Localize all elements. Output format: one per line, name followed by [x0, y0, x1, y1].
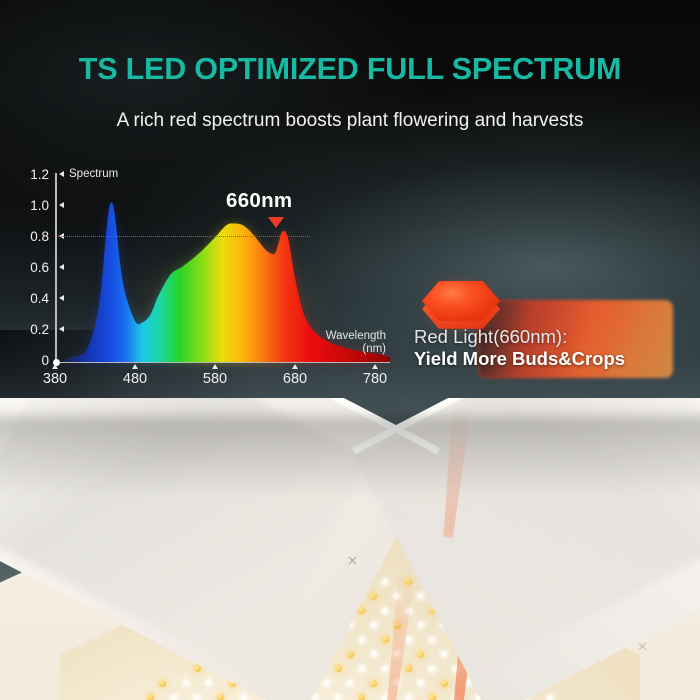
- led-dot: [347, 651, 354, 658]
- led-dot: [194, 665, 201, 672]
- led-dot: [441, 651, 447, 657]
- y-tick-mark: [59, 171, 64, 177]
- x-tick-mark: [132, 364, 138, 369]
- led-dot: [371, 622, 377, 628]
- led-dot: [429, 637, 435, 643]
- x-tick-mark: [212, 364, 218, 369]
- y-tick-mark: [59, 295, 64, 301]
- led-dot: [359, 666, 365, 672]
- led-dot: [183, 680, 189, 686]
- x-tick-label: 480: [113, 371, 157, 387]
- led-dot: [441, 680, 448, 687]
- red-led-diode: [418, 277, 504, 333]
- annotation-660nm-marker: [268, 217, 284, 228]
- led-dot: [335, 695, 341, 700]
- panel-top-shadow: [0, 416, 700, 496]
- led-dot: [382, 636, 389, 643]
- led-dot: [382, 666, 388, 672]
- y-tick-label: 1.2: [17, 167, 49, 182]
- spectrum-chart: 1.2 1.0 0.8 0.6 0.4 0.2 0 Spectrum 380 4…: [22, 165, 402, 405]
- led-dot: [406, 637, 412, 643]
- led-dot: [147, 694, 154, 700]
- y-tick-mark: [59, 202, 64, 208]
- page-subtitle: A rich red spectrum boosts plant floweri…: [0, 110, 700, 132]
- y-tick-mark: [59, 326, 64, 332]
- annotation-660nm-label: 660nm: [226, 189, 292, 213]
- callout-line-1: Red Light(660nm):: [414, 326, 567, 348]
- x-axis-label: Wavelength: [326, 330, 386, 342]
- led-dot: [418, 622, 424, 628]
- led-dot: [358, 694, 365, 700]
- y-tick-label: 0.6: [17, 260, 49, 275]
- led-dot: [194, 695, 200, 700]
- callout-line-2: Yield More Buds&Crops: [414, 348, 625, 370]
- x-tick-label: 680: [273, 371, 317, 387]
- spectrum-curve: [22, 165, 402, 405]
- led-dot: [371, 651, 377, 657]
- led-dot: [382, 695, 388, 700]
- x-tick-label: 780: [353, 371, 397, 387]
- led-dot: [418, 680, 424, 686]
- led-dot: [324, 680, 330, 686]
- y-tick-label: 1.0: [17, 198, 49, 213]
- led-dot: [547, 695, 553, 700]
- spectrum-legend-label: Spectrum: [69, 168, 118, 180]
- led-dot: [382, 579, 388, 585]
- screw-icon: [347, 555, 358, 566]
- led-dot: [417, 651, 424, 658]
- x-tick-mark: [52, 364, 58, 369]
- led-dot: [171, 695, 177, 700]
- y-tick-label: 0.2: [17, 322, 49, 337]
- screw-icon: [637, 641, 648, 652]
- led-dot: [370, 680, 377, 687]
- x-tick-mark: [372, 364, 378, 369]
- x-tick-label: 580: [193, 371, 237, 387]
- x-tick-mark: [292, 364, 298, 369]
- x-tick-label: 380: [33, 371, 77, 387]
- led-dot: [429, 666, 435, 672]
- y-tick-mark: [59, 264, 64, 270]
- page-title: TS LED OPTIMIZED FULL SPECTRUM: [0, 52, 700, 87]
- y-axis: [55, 173, 57, 363]
- led-dot: [241, 695, 247, 700]
- led-dot: [359, 637, 365, 643]
- y-tick-label: 0: [17, 353, 49, 368]
- x-axis-unit: (nm): [362, 343, 386, 355]
- led-dot: [382, 608, 388, 614]
- y-tick-label: 0.4: [17, 291, 49, 306]
- y-tick-label: 0.8: [17, 229, 49, 244]
- led-dot: [429, 694, 436, 700]
- x-axis: [55, 362, 390, 364]
- reference-line-08: [58, 236, 310, 237]
- led-dot: [347, 680, 353, 686]
- led-dot: [370, 593, 377, 600]
- led-dot: [159, 680, 166, 687]
- led-dot: [335, 665, 342, 672]
- led-dot: [206, 680, 212, 686]
- led-panel: [0, 398, 700, 700]
- promo-image: TS LED OPTIMIZED FULL SPECTRUM A rich re…: [0, 0, 700, 700]
- led-dot: [217, 694, 224, 700]
